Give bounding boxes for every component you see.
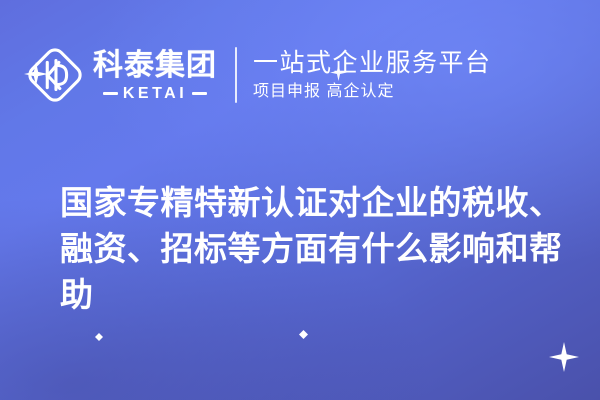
brand-wordmark: 科泰集团 KETAI [93,49,217,102]
article-cover-banner: 科泰集团 KETAI 一站式企业服务平台 项目申报 高企认定 国家专精特新认证对… [0,0,600,400]
banner-header: 科泰集团 KETAI 一站式企业服务平台 项目申报 高企认定 [0,0,600,150]
header-tagline: 一站式企业服务平台 项目申报 高企认定 [253,48,492,103]
sparkle-icon [299,330,308,339]
sparkle-icon [549,342,579,372]
brand-logo[interactable]: 科泰集团 KETAI [18,46,217,104]
header-divider [235,47,237,103]
sparkle-icon [95,333,103,341]
rule-left-icon [103,92,118,95]
brand-name-en-row: KETAI [93,85,217,102]
ketai-logo-icon [26,46,84,104]
brand-name-en: KETAI [123,85,187,102]
tagline-primary: 一站式企业服务平台 [253,48,492,78]
tagline-secondary: 项目申报 高企认定 [253,81,492,103]
brand-name-cn: 科泰集团 [93,49,217,83]
page-title: 国家专精特新认证对企业的税收、融资、招标等方面有什么影响和帮助 [60,180,566,318]
rule-right-icon [192,92,207,95]
